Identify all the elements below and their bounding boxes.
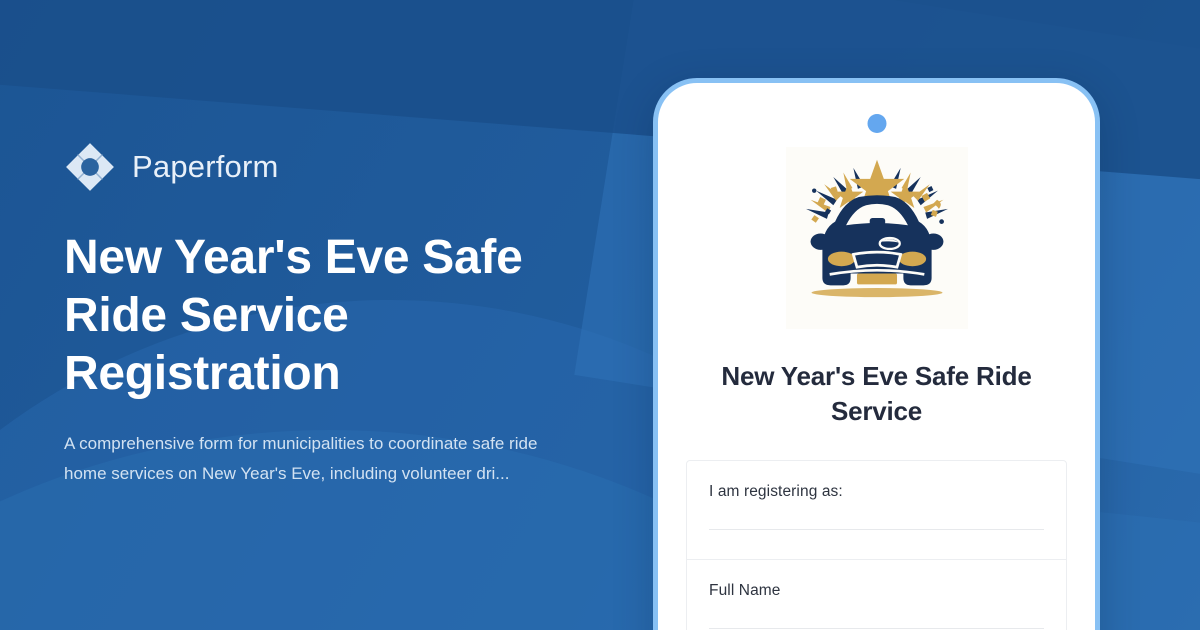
page-description: A comprehensive form for municipalities …: [64, 429, 564, 490]
brand-lockup: Paperform: [64, 141, 604, 193]
celebration-car-illustration-icon: [786, 147, 968, 329]
phone-screen: New Year's Eve Safe Ride Service I am re…: [658, 83, 1095, 630]
field-underline[interactable]: [709, 529, 1044, 530]
brand-name: Paperform: [132, 149, 279, 185]
form-field-full-name[interactable]: Full Name: [687, 559, 1066, 630]
form-field-registering-as[interactable]: I am registering as:: [687, 461, 1066, 559]
form-card: I am registering as: Full Name: [686, 460, 1067, 630]
field-label: Full Name: [709, 582, 1044, 600]
phone-mockup: New Year's Eve Safe Ride Service I am re…: [653, 78, 1100, 630]
page-title: New Year's Eve Safe Ride Service Registr…: [64, 229, 564, 403]
og-image-canvas: Paperform New Year's Eve Safe Ride Servi…: [0, 0, 1200, 630]
field-underline[interactable]: [709, 628, 1044, 629]
hero-content: Paperform New Year's Eve Safe Ride Servi…: [64, 0, 604, 630]
paperform-logo-icon: [64, 141, 116, 193]
form-title: New Year's Eve Safe Ride Service: [698, 359, 1055, 428]
field-label: I am registering as:: [709, 483, 1044, 501]
